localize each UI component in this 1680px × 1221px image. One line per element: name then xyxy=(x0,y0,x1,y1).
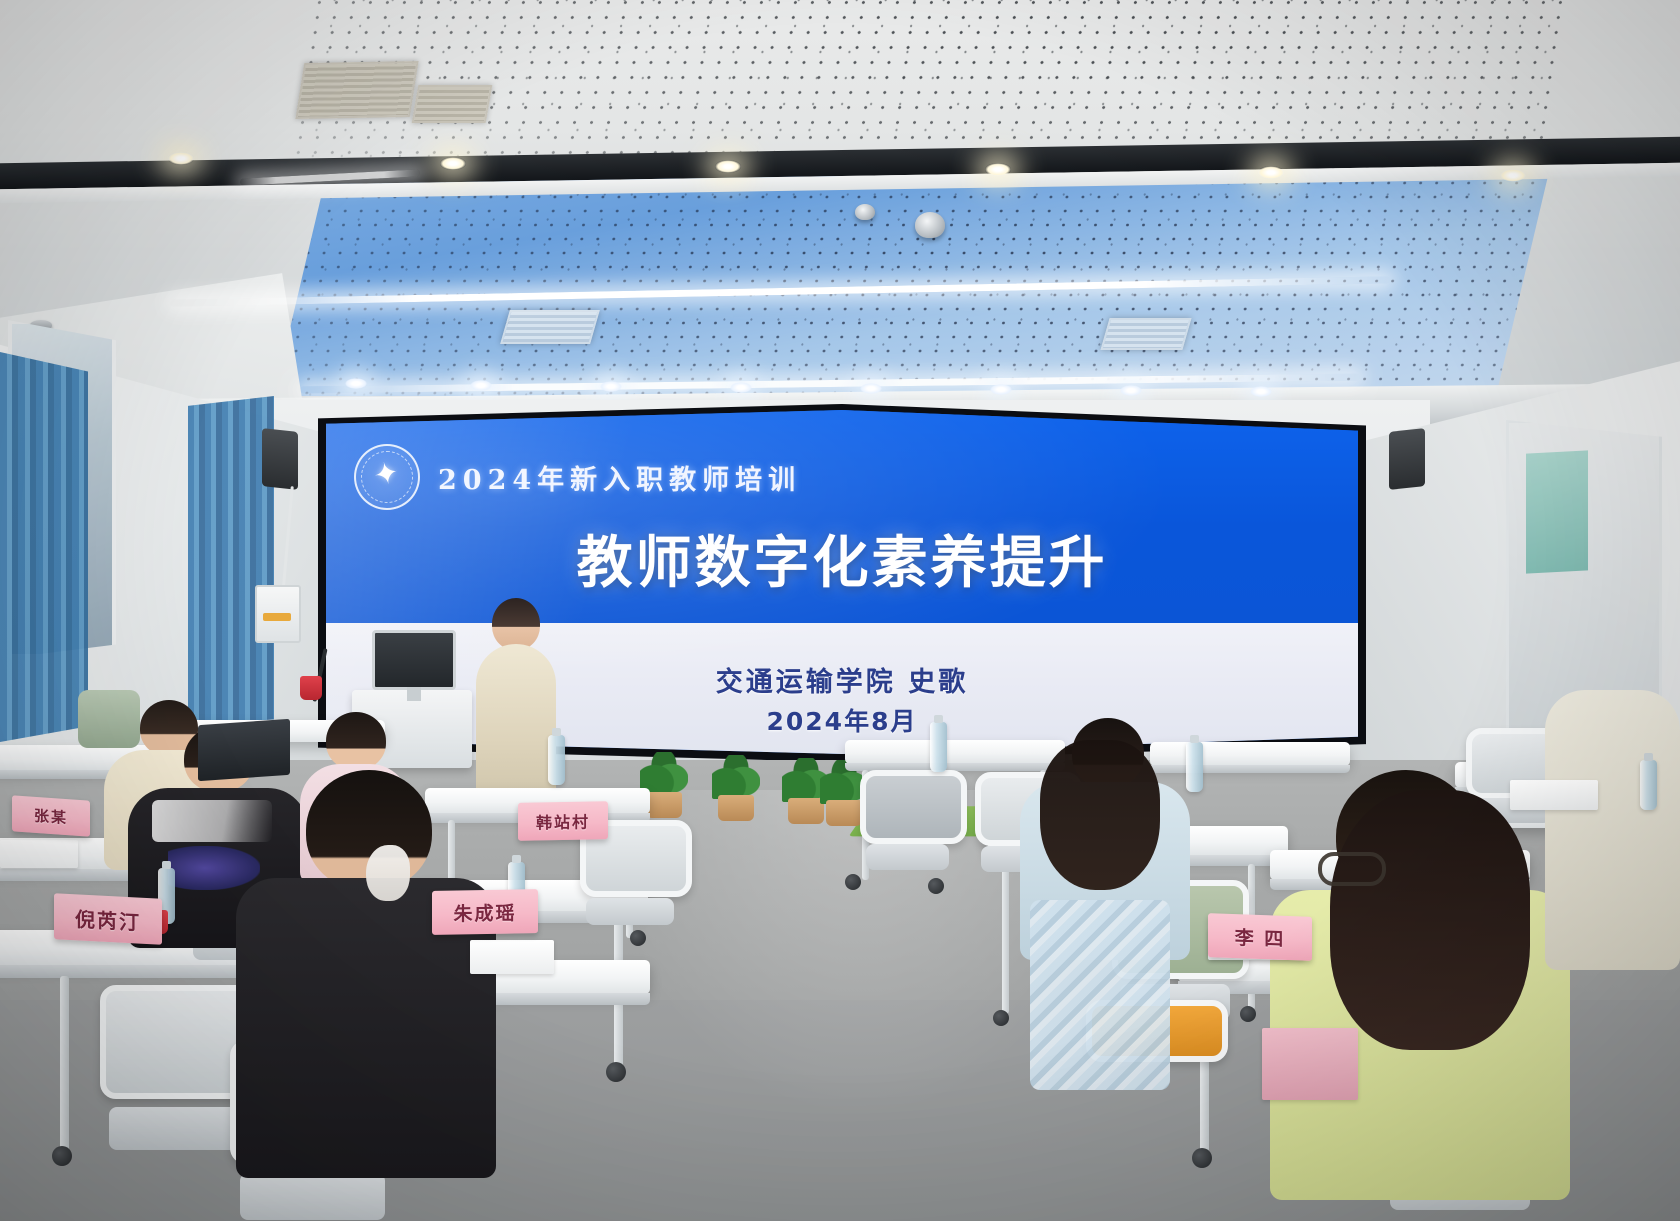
plant-pot xyxy=(788,798,824,824)
chair-seat xyxy=(866,844,950,870)
downlight-icon xyxy=(600,381,622,392)
attendee-hair xyxy=(1330,790,1530,1050)
ceiling-vent-icon xyxy=(412,85,493,123)
ceiling-vent-icon xyxy=(500,310,600,344)
desk-caster xyxy=(993,1010,1009,1026)
nameplate: 李 四 xyxy=(1208,913,1312,961)
attendee-body xyxy=(1545,690,1680,970)
red-cup xyxy=(300,676,322,700)
backpack xyxy=(78,690,140,748)
presenter-head xyxy=(492,598,540,650)
downlight-icon xyxy=(860,383,882,394)
nameplate: 倪芮汀 xyxy=(54,893,162,945)
downlight-icon xyxy=(730,382,752,393)
water-bottle xyxy=(930,722,947,772)
dome-camera-icon xyxy=(915,212,945,238)
downlight-icon xyxy=(1250,386,1272,397)
desk-leg xyxy=(1002,864,1009,1014)
chair-seat xyxy=(586,898,674,925)
downlight-icon xyxy=(1258,166,1284,179)
wall-control-panel[interactable] xyxy=(255,585,301,643)
door-glass-panel xyxy=(1526,450,1588,573)
eyeglasses-icon xyxy=(1318,852,1386,886)
downlight-icon xyxy=(168,152,194,165)
slide-header: ✦ 2024年新入职教师培训 xyxy=(354,444,801,510)
chair-seat xyxy=(240,1173,385,1220)
star-icon: ✦ xyxy=(372,458,403,493)
wall-speaker-icon xyxy=(262,428,298,490)
attendee-head xyxy=(326,712,386,770)
desk-caster xyxy=(845,874,861,890)
face-mask-icon xyxy=(366,845,410,901)
dome-camera-icon xyxy=(855,204,875,220)
plant-pot xyxy=(646,792,682,818)
plant-leaves xyxy=(712,755,760,799)
downlight-icon xyxy=(1500,169,1526,182)
desk-caster xyxy=(928,878,944,894)
desk-caster xyxy=(630,930,646,946)
desk-caster xyxy=(1240,1006,1256,1022)
chair-back xyxy=(860,770,967,844)
lectern-monitor xyxy=(372,630,456,690)
downlight-icon xyxy=(470,380,492,391)
water-bottle xyxy=(1186,742,1203,792)
window-curtain xyxy=(0,352,88,742)
desk-caster xyxy=(606,1062,626,1082)
downlight-icon xyxy=(345,378,367,389)
plant-pot xyxy=(718,795,754,821)
pink-folder xyxy=(1262,1028,1358,1100)
chair[interactable] xyxy=(860,770,955,870)
water-bottle xyxy=(548,735,565,785)
potted-plant xyxy=(712,765,760,821)
desk-caster xyxy=(1192,1148,1212,1168)
notebook xyxy=(470,940,554,974)
notebook xyxy=(1510,780,1598,810)
downlight-icon xyxy=(715,160,741,173)
desk-caster xyxy=(52,1146,72,1166)
nameplate: 张某 xyxy=(12,795,90,836)
slide-header-text: 2024年新入职教师培训 xyxy=(438,458,801,497)
attendee xyxy=(1545,690,1680,970)
wall-speaker-icon xyxy=(1389,428,1425,490)
nameplate: 韩站村 xyxy=(518,801,608,841)
downlight-icon xyxy=(985,163,1011,176)
laptop[interactable] xyxy=(198,719,290,781)
classroom-photo: ✦ 2024年新入职教师培训 教师数字化素养提升 交通运输学院 史歌 2024年… xyxy=(0,0,1680,1221)
downlight-icon xyxy=(1120,385,1142,396)
downlight-icon xyxy=(440,157,466,170)
chair-seat xyxy=(109,1107,241,1150)
attendee-skirt xyxy=(1030,900,1170,1090)
ceiling-vent-icon xyxy=(295,61,418,119)
downlight-icon xyxy=(990,384,1012,395)
chair[interactable] xyxy=(100,985,250,1150)
water-bottle xyxy=(1640,760,1657,810)
ceiling-vent-icon xyxy=(1100,318,1191,350)
university-emblem-icon: ✦ xyxy=(354,444,420,510)
attendee-foreground xyxy=(236,770,496,1170)
attendee-hair xyxy=(1040,740,1160,890)
nameplate: 朱成瑶 xyxy=(432,889,538,935)
plant-pot xyxy=(826,800,862,826)
desk-leg xyxy=(60,976,69,1151)
notebook xyxy=(0,840,78,868)
slide-title: 教师数字化素养提升 xyxy=(326,518,1358,599)
